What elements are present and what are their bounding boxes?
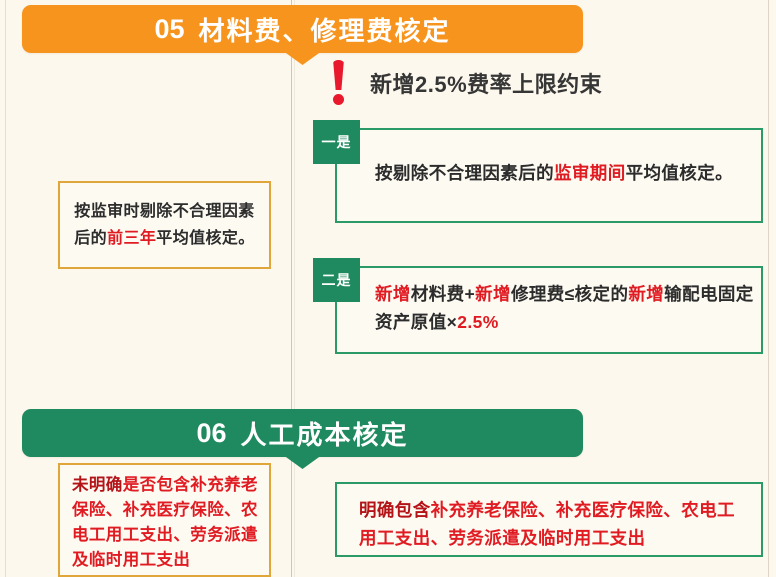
vertical-guide-right <box>768 0 769 577</box>
vertical-guide-center <box>291 0 292 577</box>
section-number-05: 05 <box>154 14 184 45</box>
new-rule-box-two: 新增材料费+新增修理费≤核定的新增输配电固定资产原值×2.5% <box>335 266 763 354</box>
vertical-guide-center-2 <box>294 0 295 577</box>
banner-pointer-icon-05 <box>285 52 321 65</box>
section-title-06: 人工成本核定 <box>241 415 409 452</box>
old-rule-text-05: 按监审时剔除不合理因素后的前三年平均值核定。 <box>72 198 257 252</box>
exclamation-icon <box>330 60 348 105</box>
item-tag-one: 一是 <box>313 120 360 164</box>
section-banner-05: 05 材料费、修理费核定 <box>22 5 583 53</box>
alert-text: 新增2.5%费率上限约束 <box>370 67 602 99</box>
old-rule-box-05: 按监审时剔除不合理因素后的前三年平均值核定。 <box>58 181 271 269</box>
banner-pointer-icon-06 <box>285 456 321 469</box>
section-number-06: 06 <box>196 418 226 449</box>
item-tag-two: 二是 <box>313 258 360 302</box>
old-rule-box-06: 未明确是否包含补充养老保险、补充医疗保险、农电工用工支出、劳务派遣及临时用工支出 <box>58 463 271 577</box>
section-banner-06: 06 人工成本核定 <box>22 409 583 457</box>
vertical-guide-left <box>5 0 6 577</box>
new-rule-text-06: 明确包含补充养老保险、补充医疗保险、农电工用工支出、劳务派遣及临时用工支出 <box>359 496 747 552</box>
new-rule-text-one: 按剔除不合理因素后的监审期间平均值核定。 <box>375 160 755 187</box>
alert-row: 新增2.5%费率上限约束 <box>330 60 602 105</box>
old-rule-text-06: 未明确是否包含补充养老保险、补充医疗保险、农电工用工支出、劳务派遣及临时用工支出 <box>72 473 259 573</box>
section-title-05: 材料费、修理费核定 <box>199 11 451 48</box>
new-rule-box-one: 按剔除不合理因素后的监审期间平均值核定。 <box>335 128 763 223</box>
new-rule-box-06: 明确包含补充养老保险、补充医疗保险、农电工用工支出、劳务派遣及临时用工支出 <box>335 482 763 557</box>
new-rule-text-two: 新增材料费+新增修理费≤核定的新增输配电固定资产原值×2.5% <box>375 280 755 337</box>
